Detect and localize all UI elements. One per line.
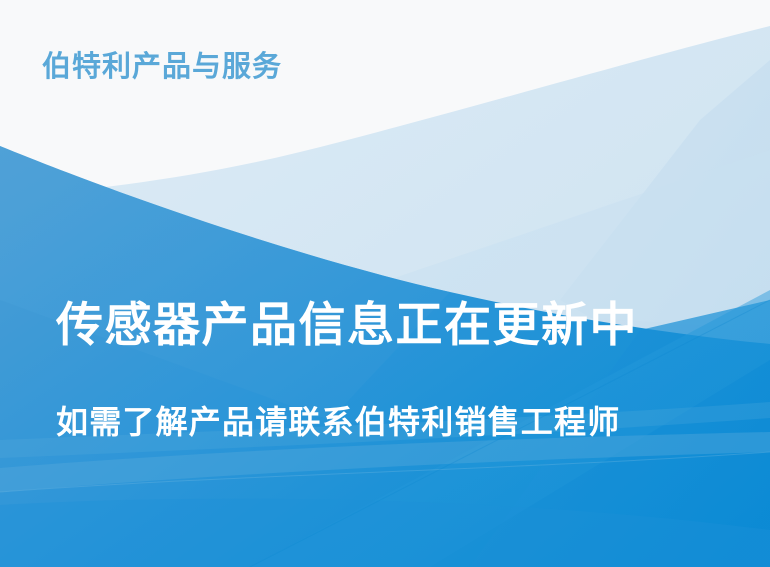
headline: 传感器产品信息正在更新中 [0, 296, 770, 354]
headline-block: 传感器产品信息正在更新中 如需了解产品请联系伯特利销售工程师 [0, 296, 770, 442]
decorative-background-art [0, 0, 770, 567]
subheadline: 如需了解产品请联系伯特利销售工程师 [0, 354, 770, 442]
product-service-banner: 伯特利产品与服务 传感器产品信息正在更新中 如需了解产品请联系伯特利销售工程师 [0, 0, 770, 567]
page-title: 伯特利产品与服务 [42, 50, 282, 84]
